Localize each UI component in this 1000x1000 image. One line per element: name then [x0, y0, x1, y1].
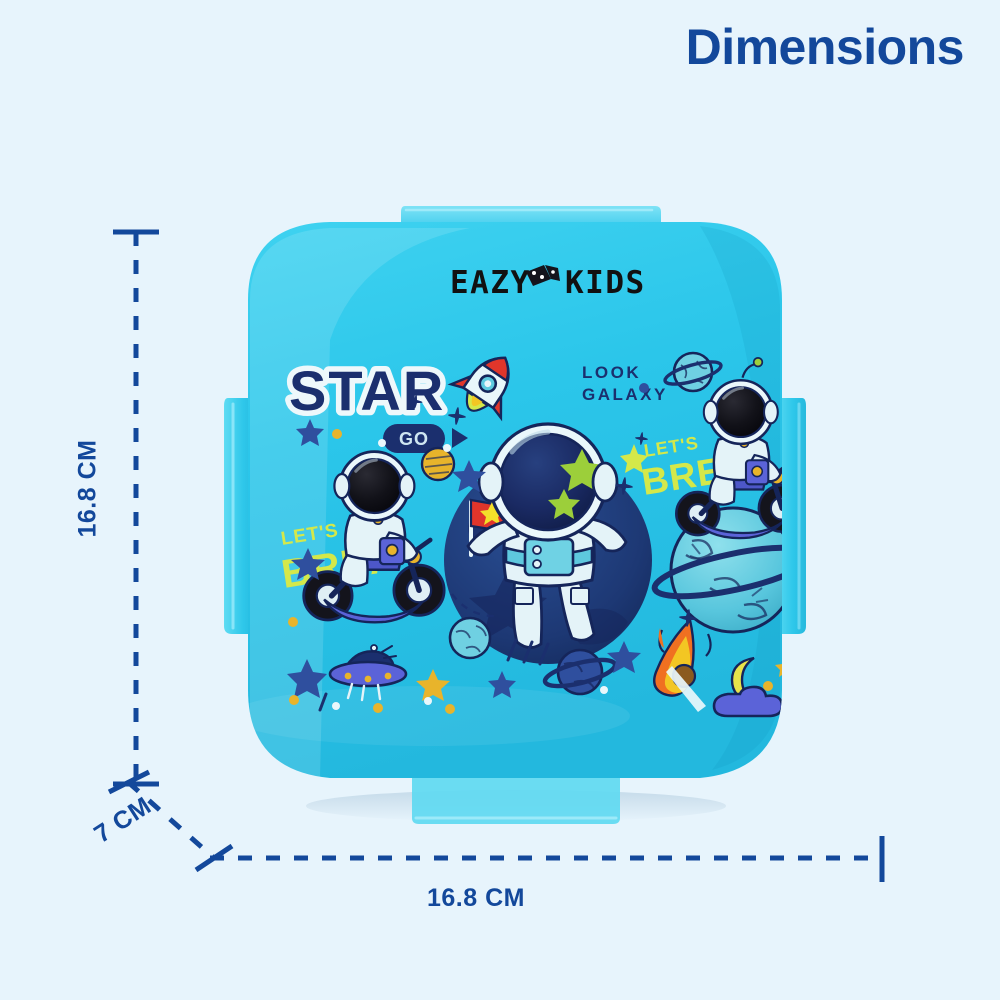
height-label: 16.8 CM: [74, 389, 103, 589]
dimension-lines: [0, 0, 1000, 1000]
width-label: 16.8 CM: [427, 884, 525, 913]
dimensions-infographic: Dimensions: [0, 0, 1000, 1000]
depth-cap-bottom: [196, 846, 232, 870]
